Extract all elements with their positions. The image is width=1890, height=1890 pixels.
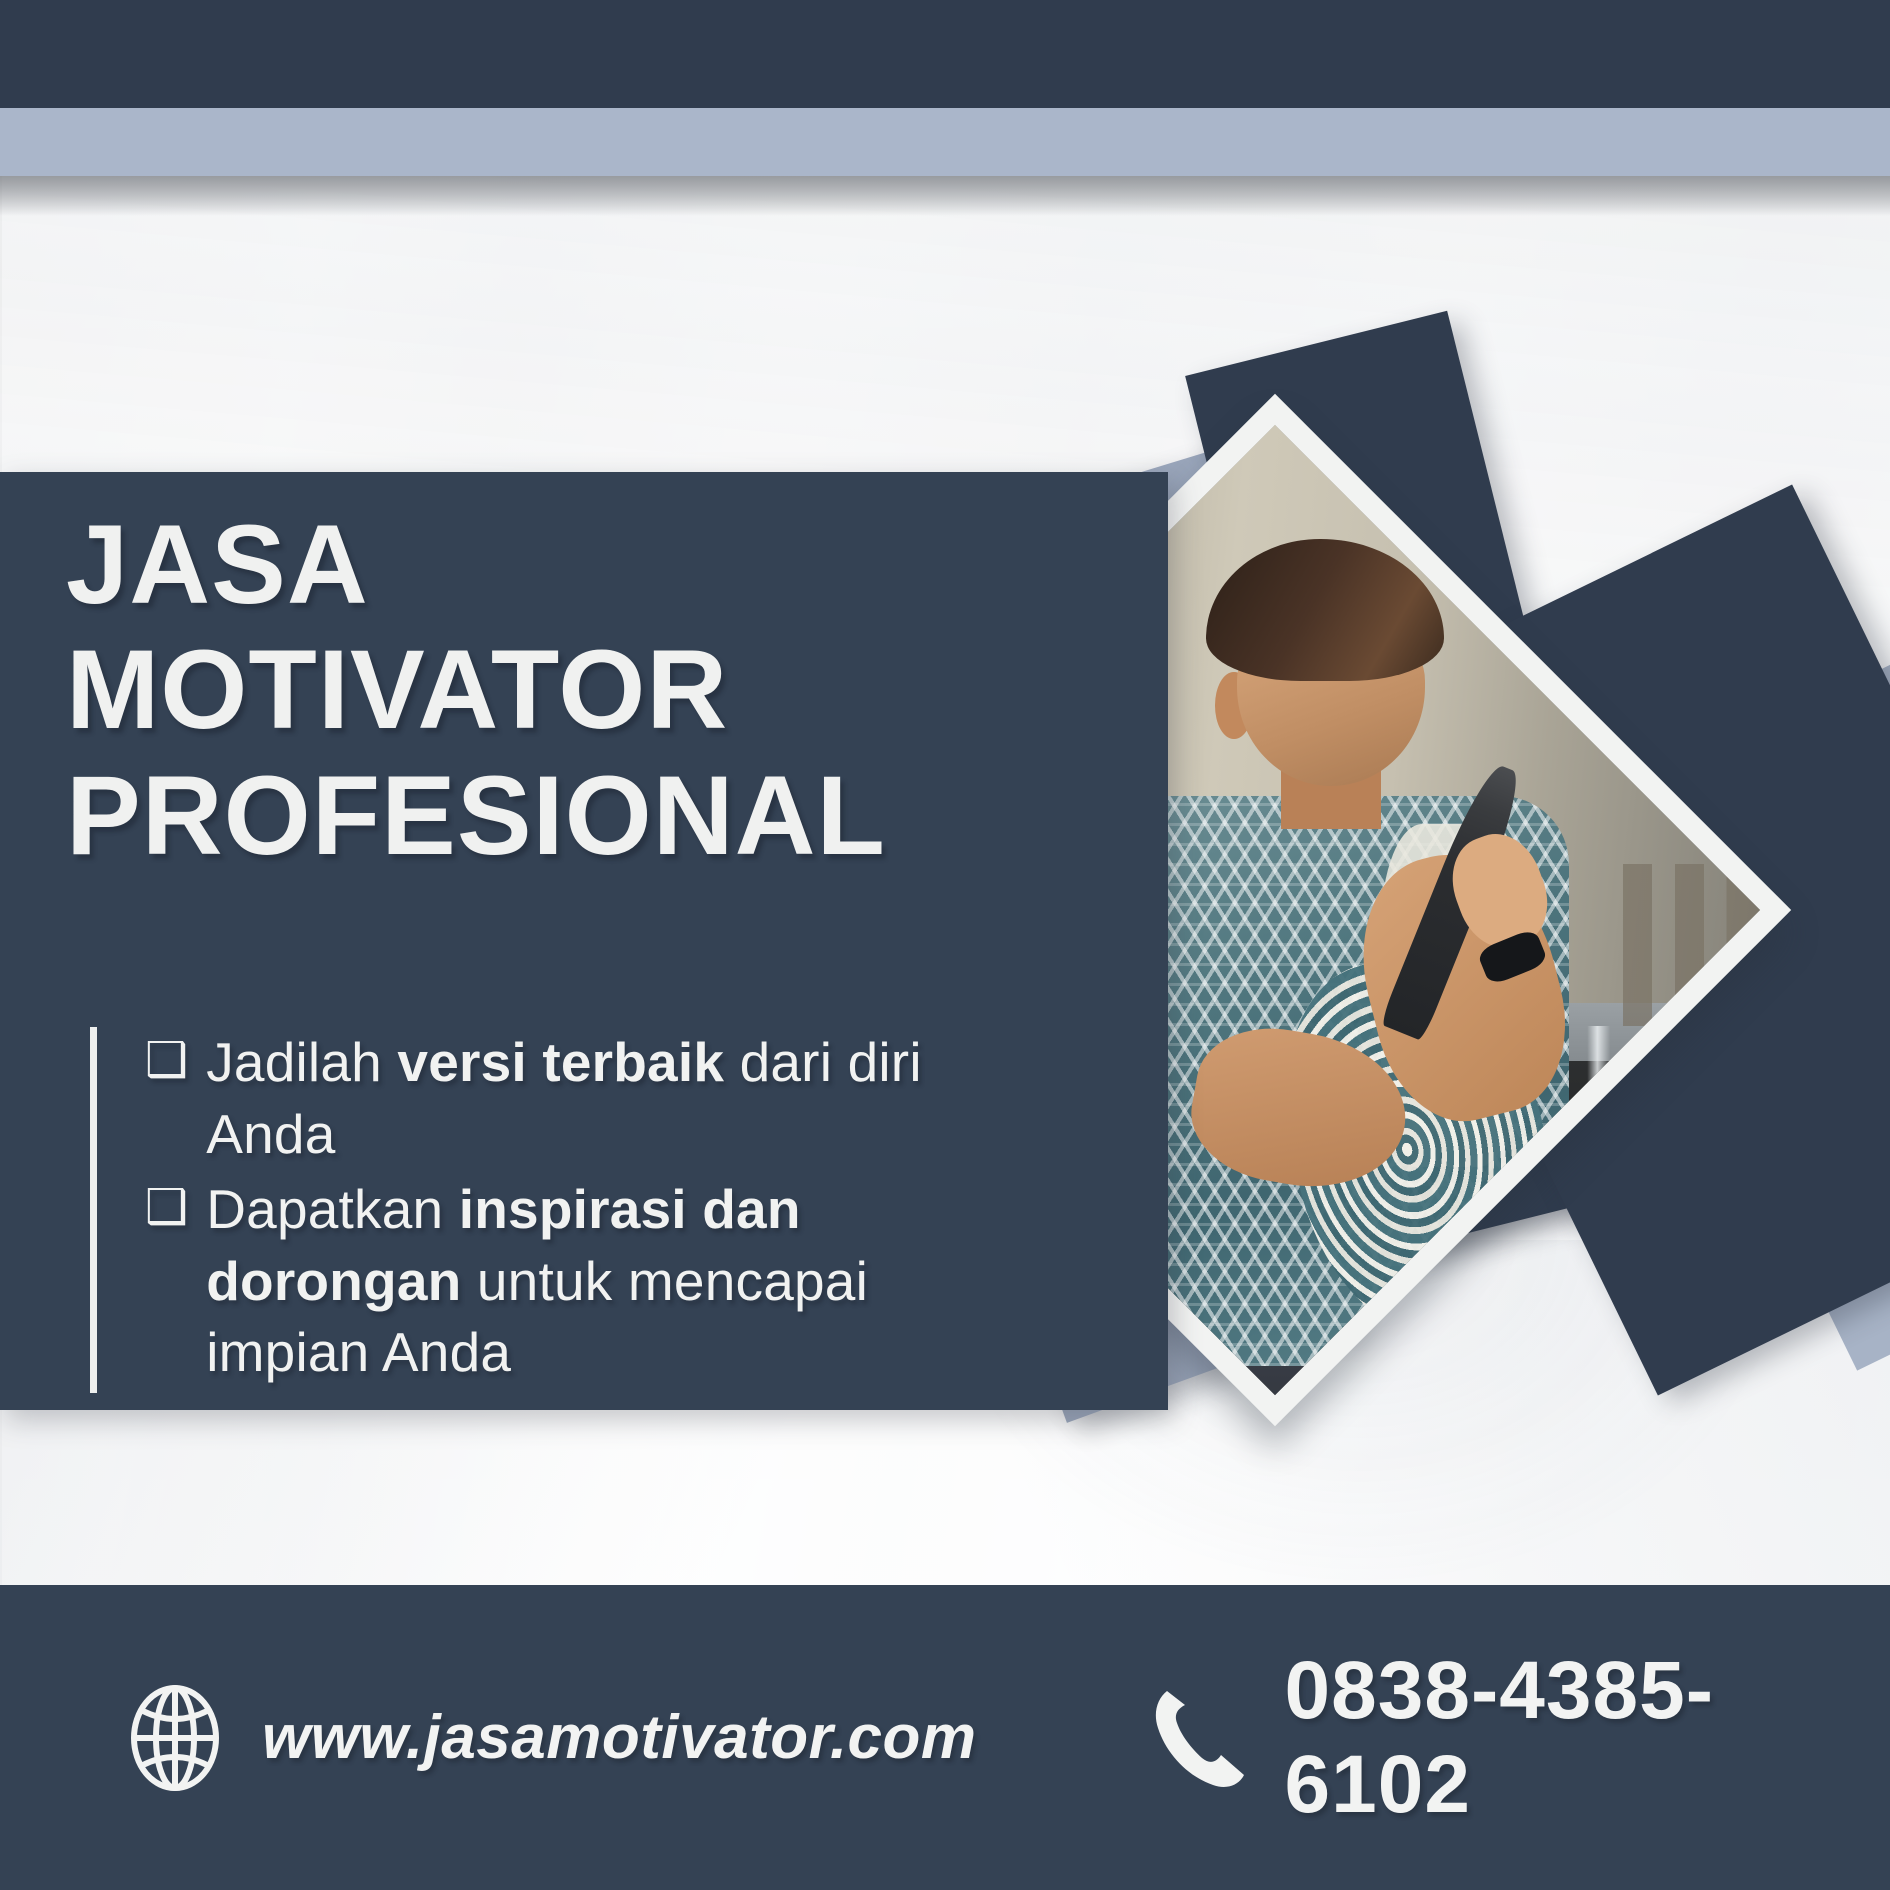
- photo-speaker-hair: [1206, 539, 1444, 682]
- bullet-2-part-1: Dapatkan: [206, 1178, 459, 1240]
- list-item-text: Jadilah versi terbaik dari diri Anda: [206, 1027, 1025, 1170]
- headline-line-3: PROFESIONAL: [66, 753, 1066, 878]
- bullet-1-part-2: versi terbaik: [397, 1031, 724, 1093]
- list-item: ❑ Dapatkan inspirasi dan dorongan untuk …: [145, 1174, 1025, 1389]
- footer-bar: www.jasamotivator.com 0838-4385-6102: [0, 1585, 1890, 1890]
- promo-poster: JASA MOTIVATOR PROFESIONAL ❑ Jadilah ver…: [0, 0, 1890, 1890]
- top-banner-light-bar: [0, 108, 1890, 176]
- phone-contact[interactable]: 0838-4385-6102: [1149, 1644, 1890, 1832]
- headline-line-1: JASA: [66, 502, 1066, 627]
- top-banner-shadow: [0, 176, 1890, 216]
- footer-contact-row: www.jasamotivator.com 0838-4385-6102: [0, 1585, 1890, 1890]
- page-title: JASA MOTIVATOR PROFESIONAL: [66, 502, 1066, 878]
- phone-icon: [1149, 1685, 1247, 1791]
- top-banner-dark-bar: [0, 0, 1890, 108]
- website-url: www.jasamotivator.com: [262, 1702, 977, 1773]
- list-item-text: Dapatkan inspirasi dan dorongan untuk me…: [206, 1174, 1025, 1389]
- bullet-1-part-1: Jadilah: [206, 1031, 397, 1093]
- square-bullet-icon: ❑: [145, 1027, 188, 1095]
- benefit-list: ❑ Jadilah versi terbaik dari diri Anda ❑…: [90, 1027, 1025, 1393]
- website-contact[interactable]: www.jasamotivator.com: [128, 1683, 977, 1793]
- square-bullet-icon: ❑: [145, 1174, 188, 1242]
- phone-number: 0838-4385-6102: [1285, 1644, 1890, 1832]
- globe-icon: [128, 1683, 222, 1793]
- content-panel: JASA MOTIVATOR PROFESIONAL ❑ Jadilah ver…: [0, 472, 1168, 1410]
- list-item: ❑ Jadilah versi terbaik dari diri Anda: [145, 1027, 1025, 1170]
- headline-line-2: MOTIVATOR: [66, 627, 1066, 752]
